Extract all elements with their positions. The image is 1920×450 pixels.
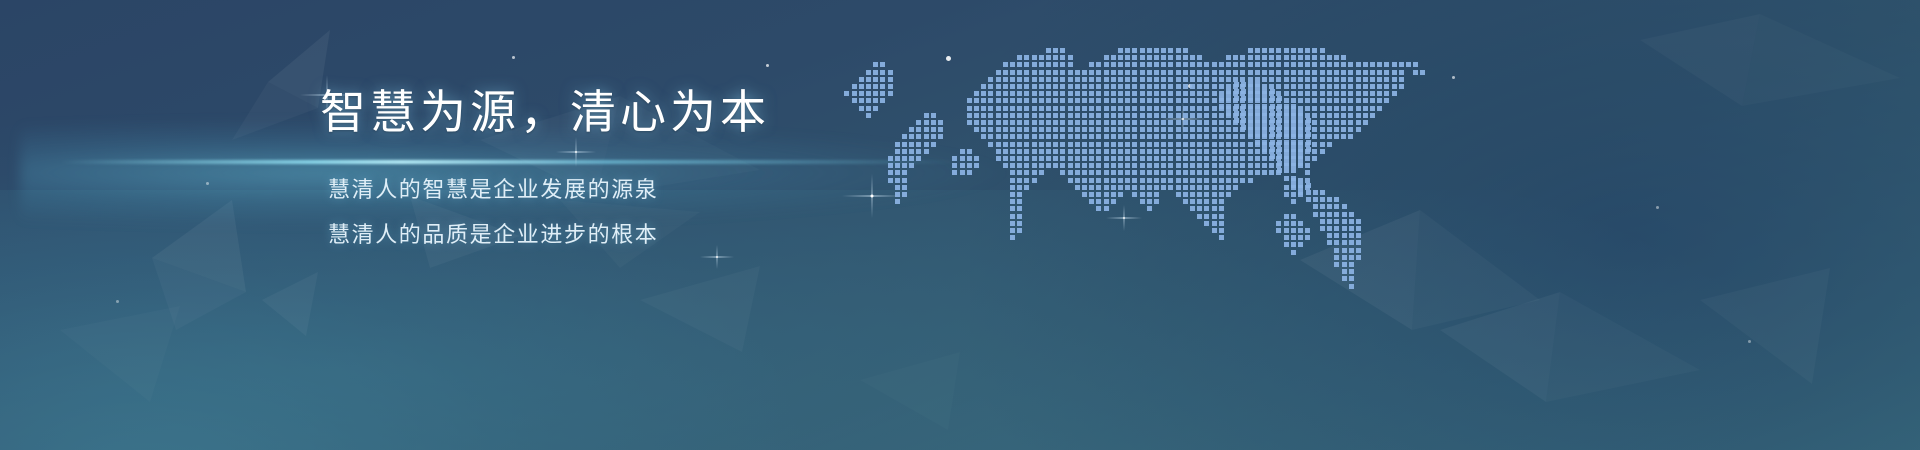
- map-dot: [1262, 48, 1267, 53]
- map-dot: [1298, 221, 1303, 226]
- map-dot: [1176, 192, 1181, 197]
- map-dot: [1219, 106, 1224, 111]
- map-dot: [1262, 55, 1267, 60]
- map-dot: [1111, 192, 1116, 197]
- map-dot: [1197, 156, 1202, 161]
- map-dot: [1161, 84, 1166, 89]
- map-dot: [1197, 206, 1202, 211]
- map-dot: [1334, 226, 1339, 231]
- map-dot: [1233, 156, 1238, 161]
- map-dot: [1305, 55, 1310, 60]
- map-dot: [1334, 120, 1339, 125]
- map-dot: [1327, 91, 1332, 96]
- map-dot: [1248, 96, 1253, 101]
- map-dot: [1291, 111, 1296, 116]
- map-dot: [1262, 147, 1267, 152]
- map-dot: [1270, 132, 1275, 137]
- map-dot: [1313, 197, 1318, 202]
- map-dot: [1306, 140, 1311, 145]
- map-dot: [1183, 127, 1188, 132]
- map-dot: [1298, 132, 1303, 137]
- map-dot: [1183, 156, 1188, 161]
- map-dot: [1284, 156, 1289, 161]
- map-dot: [1255, 118, 1260, 123]
- map-dot: [1363, 98, 1368, 103]
- map-dot: [1320, 120, 1325, 125]
- map-dot: [1233, 185, 1238, 190]
- map-dot: [1176, 98, 1181, 103]
- map-dot: [1291, 104, 1296, 109]
- map-dot: [1089, 77, 1094, 82]
- map-dot: [1291, 149, 1296, 154]
- map-dot: [1168, 84, 1173, 89]
- map-dot: [1298, 149, 1303, 154]
- map-dot: [1140, 70, 1145, 75]
- map-dot: [1269, 62, 1274, 67]
- map-dot: [1118, 106, 1123, 111]
- map-dot: [1413, 70, 1418, 75]
- map-dot: [1233, 84, 1238, 89]
- map-dot: [1219, 120, 1224, 125]
- map-dot: [1104, 156, 1109, 161]
- map-dot: [1089, 156, 1094, 161]
- map-dot: [1147, 70, 1152, 75]
- map-dot: [1132, 48, 1137, 53]
- map-dot: [1255, 170, 1260, 175]
- map-dot: [1219, 149, 1224, 154]
- sparkle-icon: [1160, 96, 1206, 142]
- map-dot: [1248, 118, 1253, 123]
- map-dot: [1053, 48, 1058, 53]
- map-dot: [1241, 104, 1246, 109]
- map-dot: [1276, 134, 1281, 139]
- map-dot: [1233, 170, 1238, 175]
- map-dot: [1212, 149, 1217, 154]
- map-dot: [1125, 178, 1130, 183]
- map-dot: [1262, 125, 1267, 130]
- map-dot: [1212, 221, 1217, 226]
- map-dot: [1219, 127, 1224, 132]
- map-dot: [1291, 62, 1296, 67]
- map-dot: [1168, 178, 1173, 183]
- map-dot: [1118, 91, 1123, 96]
- map-dot: [1234, 82, 1239, 87]
- map-dot: [1392, 62, 1397, 67]
- map-dot: [1248, 178, 1253, 183]
- map-dot: [1356, 248, 1361, 253]
- map-dot: [1219, 96, 1224, 101]
- map-dot: [1154, 163, 1159, 168]
- map-dot: [1096, 70, 1101, 75]
- map-dot: [1024, 77, 1029, 82]
- map-dot: [1349, 262, 1354, 267]
- map-dot: [1111, 77, 1116, 82]
- map-dot: [1190, 178, 1195, 183]
- map-dot: [1096, 84, 1101, 89]
- map-dot: [1320, 55, 1325, 60]
- map-dot: [1183, 185, 1188, 190]
- map-dot: [1226, 96, 1231, 101]
- map-dot: [1089, 106, 1094, 111]
- map-dot: [1284, 161, 1289, 166]
- map-dot: [1320, 84, 1325, 89]
- map-dot: [1312, 84, 1317, 89]
- map-dot: [1291, 118, 1296, 123]
- map-dot: [1125, 142, 1130, 147]
- map-dot: [1384, 84, 1389, 89]
- map-dot: [1327, 106, 1332, 111]
- map-dot: [1096, 192, 1101, 197]
- map-dot: [1341, 98, 1346, 103]
- map-dot: [1147, 170, 1152, 175]
- map-dot: [1140, 170, 1145, 175]
- map-dot: [1377, 91, 1382, 96]
- map-dot: [1327, 240, 1332, 245]
- map-dot: [1269, 127, 1274, 132]
- map-dot: [1233, 91, 1238, 96]
- map-dot: [1226, 55, 1231, 60]
- map-dot: [1334, 77, 1339, 82]
- map-dot: [1370, 91, 1375, 96]
- map-dot: [1212, 77, 1217, 82]
- map-dot: [1154, 98, 1159, 103]
- map-dot: [1147, 199, 1152, 204]
- map-dot: [1140, 120, 1145, 125]
- map-dot: [1327, 204, 1332, 209]
- map-dot: [996, 77, 1001, 82]
- map-dot: [1312, 55, 1317, 60]
- map-dot: [1262, 96, 1267, 101]
- map-dot: [1060, 48, 1065, 53]
- map-dot: [1233, 178, 1238, 183]
- map-dot: [1118, 185, 1123, 190]
- map-dot: [1132, 149, 1137, 154]
- map-dot: [1082, 70, 1087, 75]
- map-dot: [1334, 204, 1339, 209]
- map-dot: [1089, 120, 1094, 125]
- map-dot: [1298, 142, 1303, 147]
- hero-banner: 智慧为源，清心为本 慧清人的智慧是企业发展的源泉 慧清人的品质是企业进步的根本: [0, 0, 1920, 450]
- map-dot: [1356, 106, 1361, 111]
- map-dot: [1284, 154, 1289, 159]
- map-dot: [1363, 70, 1368, 75]
- map-dot: [1327, 120, 1332, 125]
- map-dot: [1399, 62, 1404, 67]
- map-dot: [1312, 48, 1317, 53]
- star-speck: [116, 300, 119, 303]
- map-dot: [1111, 170, 1116, 175]
- map-dot: [1255, 132, 1260, 137]
- map-dot: [1291, 127, 1296, 132]
- map-dot: [1349, 212, 1354, 217]
- map-dot: [1204, 206, 1209, 211]
- map-dot: [1399, 84, 1404, 89]
- map-dot: [1140, 106, 1145, 111]
- map-dot: [1197, 199, 1202, 204]
- map-dot: [1125, 156, 1130, 161]
- map-dot: [1053, 70, 1058, 75]
- map-dot: [1226, 185, 1231, 190]
- map-dot: [1248, 111, 1253, 116]
- map-dot: [1082, 192, 1087, 197]
- map-dot: [1255, 91, 1260, 96]
- map-dot: [1262, 132, 1267, 137]
- map-dot: [1161, 62, 1166, 67]
- map-dot: [1342, 240, 1347, 245]
- map-dot: [866, 70, 871, 75]
- map-dot: [1356, 113, 1361, 118]
- map-dot: [1082, 98, 1087, 103]
- map-dot: [1176, 106, 1181, 111]
- map-dot: [1320, 113, 1325, 118]
- map-dot: [1277, 147, 1282, 152]
- map-dot: [1154, 62, 1159, 67]
- map-dot: [1269, 98, 1274, 103]
- map-dot: [1017, 62, 1022, 67]
- map-dot: [1233, 106, 1238, 111]
- map-dot: [1183, 192, 1188, 197]
- map-dot: [1147, 134, 1152, 139]
- map-dot: [1305, 84, 1310, 89]
- map-dot: [1197, 163, 1202, 168]
- map-dot: [1204, 84, 1209, 89]
- map-dot: [1233, 98, 1238, 103]
- map-dot: [1125, 185, 1130, 190]
- map-dot: [1082, 185, 1087, 190]
- map-dot: [1190, 192, 1195, 197]
- map-dot: [1132, 106, 1137, 111]
- map-dot: [1032, 55, 1037, 60]
- map-dot: [1204, 214, 1209, 219]
- map-dot: [1147, 106, 1152, 111]
- map-dot: [1140, 55, 1145, 60]
- map-dot: [1096, 127, 1101, 132]
- map-dot: [1212, 98, 1217, 103]
- map-dot: [1096, 149, 1101, 154]
- map-dot: [880, 62, 885, 67]
- map-dot: [1212, 178, 1217, 183]
- map-dot: [1161, 120, 1166, 125]
- map-dot: [1349, 248, 1354, 253]
- map-dot: [1291, 161, 1296, 166]
- map-dot: [1269, 134, 1274, 139]
- map-dot: [1327, 212, 1332, 217]
- map-dot: [1118, 48, 1123, 53]
- map-dot: [1176, 77, 1181, 82]
- map-dot: [1190, 70, 1195, 75]
- map-dot: [1305, 120, 1310, 125]
- map-dot: [1104, 134, 1109, 139]
- map-dot: [1082, 142, 1087, 147]
- map-dot: [1147, 55, 1152, 60]
- map-dot: [1212, 106, 1217, 111]
- map-dot: [880, 70, 885, 75]
- map-dot: [1147, 84, 1152, 89]
- map-dot: [1233, 120, 1238, 125]
- map-dot: [1190, 77, 1195, 82]
- map-dot: [1370, 70, 1375, 75]
- map-dot: [1089, 199, 1094, 204]
- map-dot: [1262, 89, 1267, 94]
- map-dot: [1204, 70, 1209, 75]
- map-dot: [1255, 120, 1260, 125]
- map-dot: [1276, 149, 1281, 154]
- star-speck: [512, 56, 515, 59]
- map-dot: [1111, 62, 1116, 67]
- map-dot: [1096, 77, 1101, 82]
- map-dot: [1334, 233, 1339, 238]
- map-dot: [1183, 70, 1188, 75]
- map-dot: [1348, 134, 1353, 139]
- map-dot: [1183, 170, 1188, 175]
- map-dot: [1204, 185, 1209, 190]
- map-dot: [1413, 62, 1418, 67]
- map-dot: [1298, 55, 1303, 60]
- map-dot: [1104, 106, 1109, 111]
- map-dot: [1140, 192, 1145, 197]
- map-dot: [1284, 111, 1289, 116]
- map-dot: [1197, 170, 1202, 175]
- map-dot: [1204, 170, 1209, 175]
- map-dot: [1104, 127, 1109, 132]
- map-dot: [1270, 125, 1275, 130]
- map-dot: [1399, 70, 1404, 75]
- map-dot: [1154, 84, 1159, 89]
- map-dot: [1104, 77, 1109, 82]
- map-dot: [1183, 120, 1188, 125]
- map-dot: [1284, 113, 1289, 118]
- map-dot: [1255, 156, 1260, 161]
- map-dot: [1298, 62, 1303, 67]
- map-dot: [1270, 111, 1275, 116]
- map-dot: [1320, 98, 1325, 103]
- map-dot: [1176, 178, 1181, 183]
- map-dot: [1240, 149, 1245, 154]
- map-dot: [1219, 178, 1224, 183]
- map-dot: [1118, 149, 1123, 154]
- map-dot: [1053, 55, 1058, 60]
- map-dot: [1219, 142, 1224, 147]
- map-dot: [1341, 120, 1346, 125]
- map-dot: [1284, 192, 1289, 197]
- map-dot: [1233, 62, 1238, 67]
- map-dot: [1348, 127, 1353, 132]
- map-dot: [1291, 120, 1296, 125]
- map-dot: [1147, 62, 1152, 67]
- map-dot: [1312, 70, 1317, 75]
- map-dot: [1399, 77, 1404, 82]
- map-dot: [1334, 106, 1339, 111]
- map-dot: [1241, 82, 1246, 87]
- map-dot: [1234, 118, 1239, 123]
- map-dot: [1305, 106, 1310, 111]
- map-dot: [1370, 62, 1375, 67]
- map-dot: [1161, 48, 1166, 53]
- map-dot: [1168, 106, 1173, 111]
- map-dot: [1132, 84, 1137, 89]
- map-dot: [1276, 163, 1281, 168]
- map-dot: [1212, 185, 1217, 190]
- map-dot: [1349, 219, 1354, 224]
- map-dot: [1140, 199, 1145, 204]
- map-dot: [1032, 77, 1037, 82]
- map-dot: [1262, 140, 1267, 145]
- map-dot: [1269, 170, 1274, 175]
- map-dot: [1269, 84, 1274, 89]
- map-dot: [1183, 163, 1188, 168]
- map-dot: [1248, 149, 1253, 154]
- map-dot: [1226, 163, 1231, 168]
- map-dot: [1125, 113, 1130, 118]
- map-dot: [1269, 77, 1274, 82]
- map-dot: [1298, 228, 1303, 233]
- map-dot: [1320, 197, 1325, 202]
- map-dot: [1226, 98, 1231, 103]
- map-dot: [1154, 77, 1159, 82]
- map-dot: [1176, 127, 1181, 132]
- map-dot: [1212, 134, 1217, 139]
- map-dot: [1320, 204, 1325, 209]
- map-dot: [1312, 91, 1317, 96]
- map-dot: [1334, 91, 1339, 96]
- map-dot: [1320, 212, 1325, 217]
- map-dot: [1197, 185, 1202, 190]
- map-dot: [1104, 84, 1109, 89]
- map-dot: [1161, 149, 1166, 154]
- map-dot: [1161, 142, 1166, 147]
- map-dot: [1284, 221, 1289, 226]
- map-dot: [1219, 199, 1224, 204]
- map-dot: [1320, 226, 1325, 231]
- map-dot: [1348, 91, 1353, 96]
- map-dot: [1341, 127, 1346, 132]
- map-dot: [1118, 98, 1123, 103]
- map-dot: [1270, 89, 1275, 94]
- map-dot: [1305, 77, 1310, 82]
- star-speck: [1656, 206, 1659, 209]
- map-dot: [1255, 134, 1260, 139]
- map-dot: [1226, 127, 1231, 132]
- map-dot: [1370, 106, 1375, 111]
- map-dot: [1204, 127, 1209, 132]
- map-dot: [1104, 185, 1109, 190]
- map-dot: [1384, 62, 1389, 67]
- map-dot: [1306, 190, 1311, 195]
- map-dot: [1320, 48, 1325, 53]
- map-dot: [1363, 120, 1368, 125]
- map-dot: [1176, 55, 1181, 60]
- map-dot: [1420, 70, 1425, 75]
- map-dot: [1111, 178, 1116, 183]
- map-dot: [1132, 77, 1137, 82]
- map-dot: [1226, 106, 1231, 111]
- map-dot: [1284, 84, 1289, 89]
- map-dot: [1039, 55, 1044, 60]
- map-dot: [1212, 62, 1217, 67]
- map-dot: [1104, 178, 1109, 183]
- map-dot: [1276, 84, 1281, 89]
- map-dot: [1212, 156, 1217, 161]
- map-dot: [1276, 62, 1281, 67]
- map-dot: [1140, 127, 1145, 132]
- map-dot: [1104, 113, 1109, 118]
- map-dot: [1291, 192, 1296, 197]
- map-dot: [1334, 62, 1339, 67]
- map-dot: [1284, 120, 1289, 125]
- map-dot: [1240, 77, 1245, 82]
- map-dot: [1291, 48, 1296, 53]
- map-dot: [1082, 120, 1087, 125]
